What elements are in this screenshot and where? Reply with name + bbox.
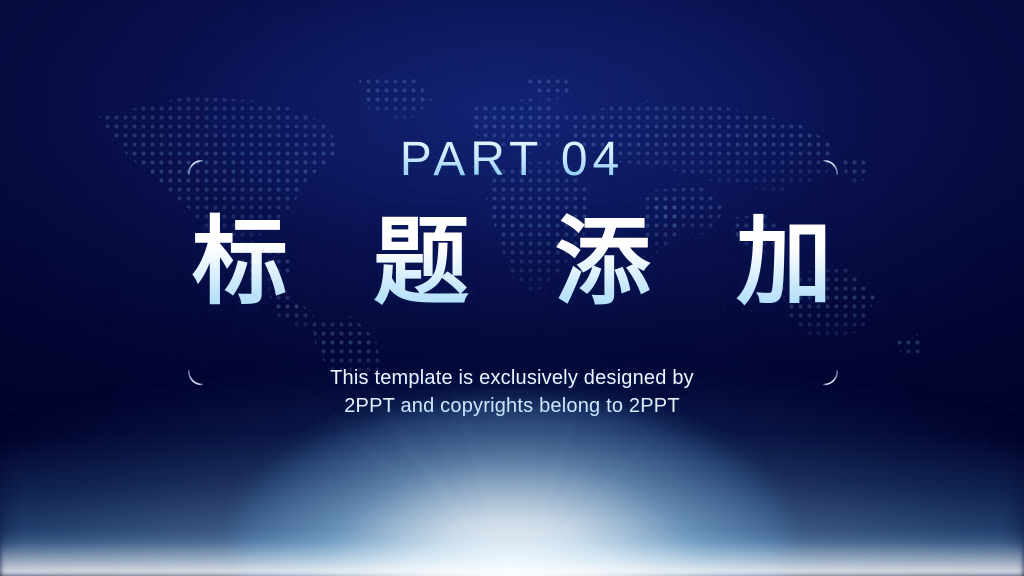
presentation-slide: PART 04 标 题 添 加 This template is exclusi… — [0, 0, 1024, 576]
glow-floor — [0, 530, 1024, 576]
bottom-light-glow — [0, 246, 1024, 576]
section-label: PART 04 — [0, 136, 1024, 184]
